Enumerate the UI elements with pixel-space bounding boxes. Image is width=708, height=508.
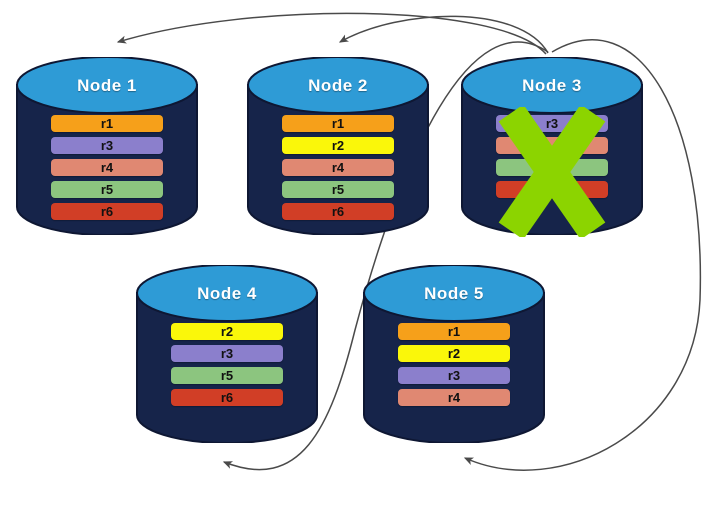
node-3-replica-list: r3	[461, 115, 643, 203]
node-4-replica-list: r2r3r5r6	[136, 323, 318, 411]
node-3-replica-r3[interactable]: r3	[496, 115, 608, 132]
node-1-replica-r6[interactable]: r6	[51, 203, 163, 220]
arrow-node3-to-node2	[340, 16, 548, 53]
node-5-replica-r4[interactable]: r4	[398, 389, 510, 406]
node-2-top-disc	[248, 57, 428, 113]
node-4[interactable]: Node 4r2r3r5r6	[136, 265, 318, 443]
node-2-replica-r2[interactable]: r2	[282, 137, 394, 154]
node-4-replica-r5[interactable]: r5	[171, 367, 283, 384]
node-1-replica-r3[interactable]: r3	[51, 137, 163, 154]
diagram-canvas: Node 1r1r3r4r5r6Node 2r1r2r4r5r6Node 3r3…	[0, 0, 708, 508]
node-5-replica-r3[interactable]: r3	[398, 367, 510, 384]
node-4-replica-r3[interactable]: r3	[171, 345, 283, 362]
node-5[interactable]: Node 5r1r2r3r4	[363, 265, 545, 443]
node-5-replica-list: r1r2r3r4	[363, 323, 545, 411]
node-2-replica-list: r1r2r4r5r6	[247, 115, 429, 225]
node-4-replica-r2[interactable]: r2	[171, 323, 283, 340]
node-4-replica-r6[interactable]: r6	[171, 389, 283, 406]
node-5-replica-r1[interactable]: r1	[398, 323, 510, 340]
node-2-replica-r4[interactable]: r4	[282, 159, 394, 176]
node-3-replica-slot-4[interactable]	[496, 181, 608, 198]
node-1-replica-r1[interactable]: r1	[51, 115, 163, 132]
node-2-replica-r1[interactable]: r1	[282, 115, 394, 132]
node-1-replica-r4[interactable]: r4	[51, 159, 163, 176]
node-1-top-disc	[17, 57, 197, 113]
node-5-top-disc	[364, 265, 544, 321]
node-5-replica-r2[interactable]: r2	[398, 345, 510, 362]
node-3[interactable]: Node 3r3	[461, 57, 643, 235]
node-3-replica-slot-2[interactable]	[496, 137, 608, 154]
node-1-replica-r5[interactable]: r5	[51, 181, 163, 198]
node-1-replica-list: r1r3r4r5r6	[16, 115, 198, 225]
node-2-replica-r5[interactable]: r5	[282, 181, 394, 198]
node-4-top-disc	[137, 265, 317, 321]
node-2-replica-r6[interactable]: r6	[282, 203, 394, 220]
node-2[interactable]: Node 2r1r2r4r5r6	[247, 57, 429, 235]
node-1[interactable]: Node 1r1r3r4r5r6	[16, 57, 198, 235]
arrow-node3-to-node1	[118, 13, 546, 54]
node-3-top-disc	[462, 57, 642, 113]
node-3-replica-slot-3[interactable]	[496, 159, 608, 176]
